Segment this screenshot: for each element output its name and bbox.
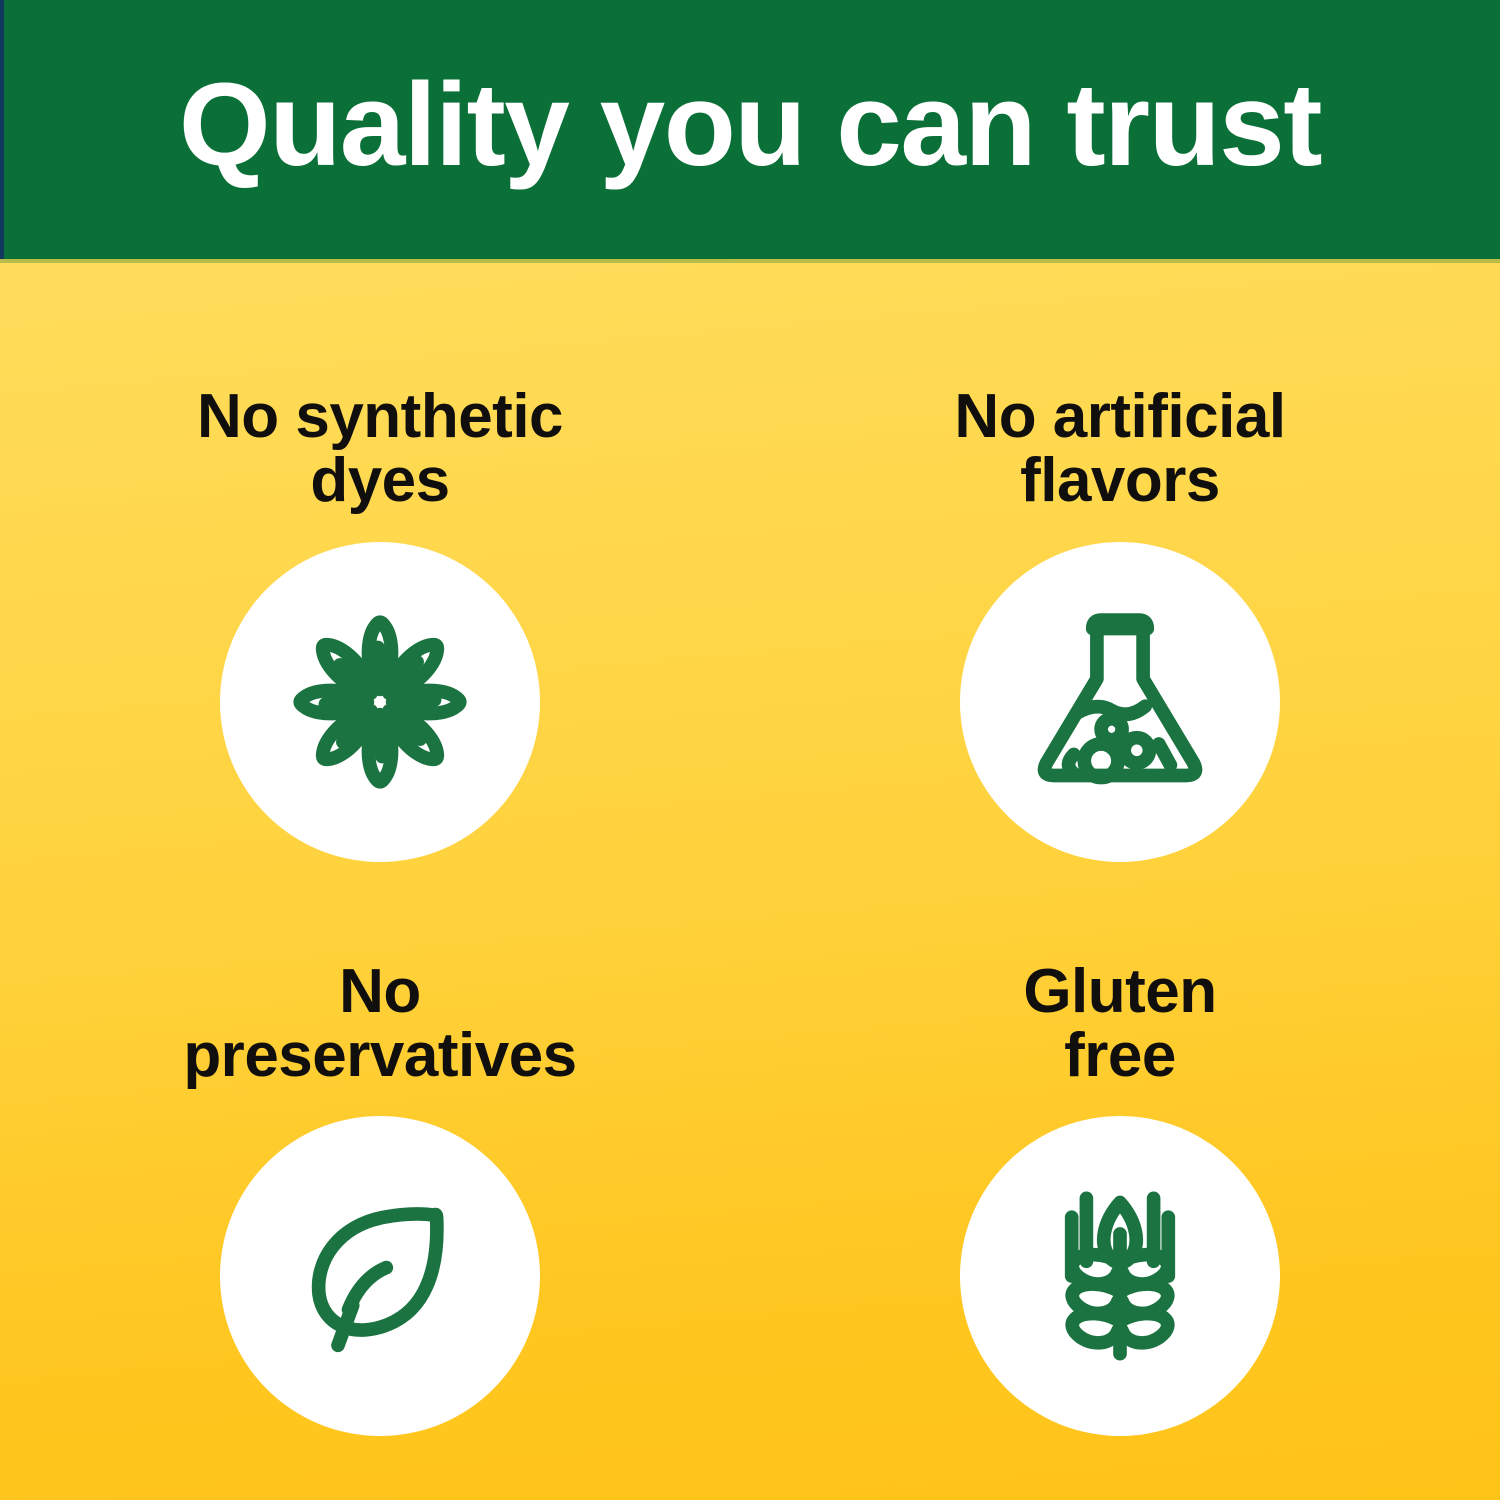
feature-no-synthetic-dyes: No synthetic dyes	[0, 263, 750, 882]
header-banner: Quality you can trust	[0, 0, 1500, 259]
feature-label: No preservatives	[183, 960, 576, 1089]
feature-label-line1: Gluten	[1023, 957, 1216, 1026]
feature-no-preservatives: No preservatives	[0, 882, 750, 1500]
feature-label-line2: preservatives	[183, 1024, 576, 1088]
flask-icon	[1015, 597, 1225, 807]
feature-label-line1: No artificial	[954, 382, 1285, 451]
icon-circle	[220, 542, 540, 862]
page-title: Quality you can trust	[179, 66, 1321, 184]
feature-label-line1: No synthetic	[197, 382, 563, 451]
feature-label-line2: flavors	[954, 449, 1285, 513]
feature-no-artificial-flavors: No artificial flavors	[750, 263, 1500, 882]
promo-graphic: Quality you can trust No synthetic dyes	[0, 0, 1500, 1500]
feature-label-line2: dyes	[197, 449, 563, 513]
icon-circle	[960, 542, 1280, 862]
feature-label: No artificial flavors	[954, 385, 1285, 514]
icon-circle	[220, 1116, 540, 1436]
flower-petals-icon	[275, 597, 485, 807]
icon-circle	[960, 1116, 1280, 1436]
feature-label: Gluten free	[1023, 960, 1216, 1089]
feature-label: No synthetic dyes	[197, 385, 563, 514]
feature-grid: No synthetic dyes	[0, 263, 1500, 1500]
feature-label-line1: No	[339, 957, 421, 1026]
wheat-icon	[1015, 1171, 1225, 1381]
banner-left-accent-strip	[0, 0, 4, 259]
leaf-icon	[275, 1171, 485, 1381]
feature-gluten-free: Gluten free	[750, 882, 1500, 1500]
feature-label-line2: free	[1023, 1024, 1216, 1088]
